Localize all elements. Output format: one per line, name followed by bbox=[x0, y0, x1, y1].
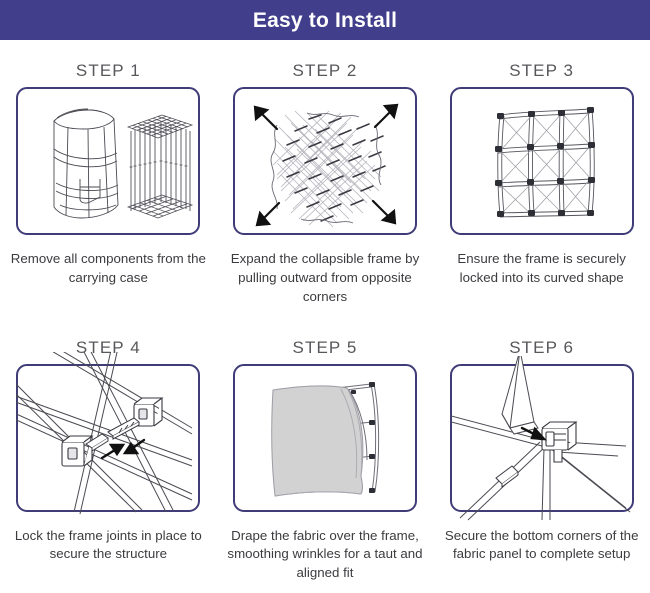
step-caption-5: Drape the fabric over the frame, smoothi… bbox=[227, 527, 423, 584]
step-illustration-box-2 bbox=[233, 87, 417, 235]
install-instructions-page: Easy to Install STEP 1 bbox=[0, 0, 650, 593]
step-caption-6: Secure the bottom corners of the fabric … bbox=[444, 527, 640, 565]
step-title-1: STEP 1 bbox=[76, 62, 141, 79]
step-illustration-box-3 bbox=[450, 87, 634, 235]
step-card-2: STEP 2 bbox=[217, 40, 434, 317]
step-illustration-box-5 bbox=[233, 364, 417, 512]
step-card-1: STEP 1 bbox=[0, 40, 217, 317]
step-card-4: STEP 4 bbox=[0, 317, 217, 593]
step-caption-2: Expand the collapsible frame by pulling … bbox=[227, 250, 423, 307]
step-title-6: STEP 6 bbox=[509, 339, 574, 356]
step-card-3: STEP 3 bbox=[433, 40, 650, 317]
step-title-2: STEP 2 bbox=[293, 62, 358, 79]
step-card-5: STEP 5 bbox=[217, 317, 434, 593]
frame-joint-locking-clips-icon bbox=[16, 364, 200, 512]
step-caption-4: Lock the frame joints in place to secure… bbox=[10, 527, 206, 565]
collapsed-scissor-frame-icon bbox=[233, 87, 417, 235]
fabric-draped-over-frame-icon bbox=[233, 364, 417, 512]
steps-grid: STEP 1 bbox=[0, 40, 650, 593]
fabric-corner-clip-icon bbox=[450, 364, 634, 512]
expanded-grid-frame-icon bbox=[450, 87, 634, 235]
step-caption-1: Remove all components from the carrying … bbox=[10, 250, 206, 288]
page-title: Easy to Install bbox=[253, 10, 397, 31]
step-caption-3: Ensure the frame is securely locked into… bbox=[444, 250, 640, 288]
step-illustration-box-1 bbox=[16, 87, 200, 235]
step-title-3: STEP 3 bbox=[509, 62, 574, 79]
step-illustration-box-4 bbox=[16, 364, 200, 512]
header-banner: Easy to Install bbox=[0, 0, 650, 40]
step-card-6: STEP 6 bbox=[433, 317, 650, 593]
step-illustration-box-6 bbox=[450, 364, 634, 512]
step-title-5: STEP 5 bbox=[293, 339, 358, 356]
carry-case-and-poles-icon bbox=[16, 87, 200, 235]
